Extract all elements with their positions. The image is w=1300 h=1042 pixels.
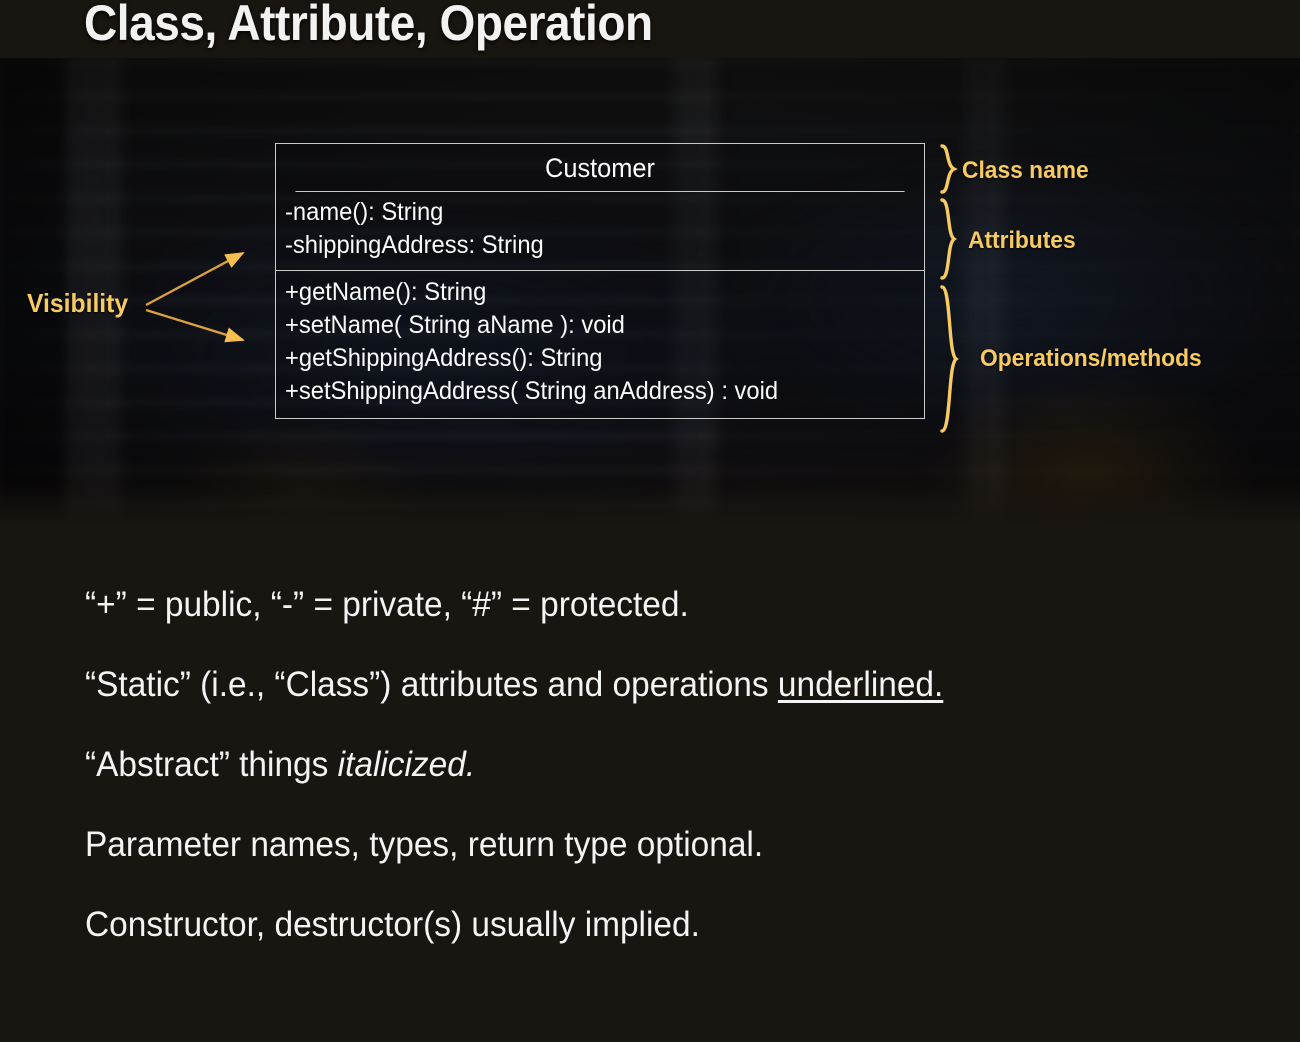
uml-attribute-row: -shippingAddress: String xyxy=(285,229,892,262)
uml-attribute-row: -name(): String xyxy=(285,196,892,229)
bullet-parameters-optional: Parameter names, types, return type opti… xyxy=(85,823,1174,867)
annotation-label-attributes: Attributes xyxy=(968,227,1076,255)
uml-attributes-compartment: -name(): String -shippingAddress: String xyxy=(276,192,924,271)
bullet-static-underlined: “Static” (i.e., “Class”) attributes and … xyxy=(85,663,1174,707)
operations-brace-icon xyxy=(937,285,965,433)
uml-operation-row: +setName( String aName ): void xyxy=(285,309,892,342)
bullet-list: “+” = public, “-” = private, “#” = prote… xyxy=(85,583,1225,983)
slide-canvas: Class, Attribute, Operation Customer -na… xyxy=(0,0,1300,1042)
bullet-visibility-symbols: “+” = public, “-” = private, “#” = prote… xyxy=(85,583,1174,627)
annotation-label-operations: Operations/methods xyxy=(980,345,1202,373)
bullet-abstract-italic: “Abstract” things italicized. xyxy=(85,743,1174,787)
uml-class-box: Customer -name(): String -shippingAddres… xyxy=(275,143,925,419)
class-name-brace-icon xyxy=(937,144,963,194)
attributes-brace-icon xyxy=(937,198,963,280)
annotation-label-class-name: Class name xyxy=(962,157,1089,185)
page-title: Class, Attribute, Operation xyxy=(84,0,653,52)
uml-class-name: Customer xyxy=(295,144,904,192)
annotation-label-visibility: Visibility xyxy=(27,288,128,319)
bullet-constructor-implied: Constructor, destructor(s) usually impli… xyxy=(85,903,1174,947)
bullet-text: “Static” (i.e., “Class”) attributes and … xyxy=(85,665,778,704)
uml-operation-row: +getName(): String xyxy=(285,276,892,309)
bullet-text: Parameter names, types, return type opti… xyxy=(85,825,763,864)
bullet-text-italic: italicized. xyxy=(338,745,475,784)
uml-operation-row: +getShippingAddress(): String xyxy=(285,342,892,375)
bullet-text-underlined: underlined. xyxy=(778,665,943,704)
bullet-text: Constructor, destructor(s) usually impli… xyxy=(85,905,700,944)
bullet-text: “+” = public, “-” = private, “#” = prote… xyxy=(85,585,689,624)
uml-operations-compartment: +getName(): String +setName( String aNam… xyxy=(276,271,924,418)
bullet-text: “Abstract” things xyxy=(85,745,338,784)
uml-operation-row: +setShippingAddress( String anAddress) :… xyxy=(285,375,892,408)
